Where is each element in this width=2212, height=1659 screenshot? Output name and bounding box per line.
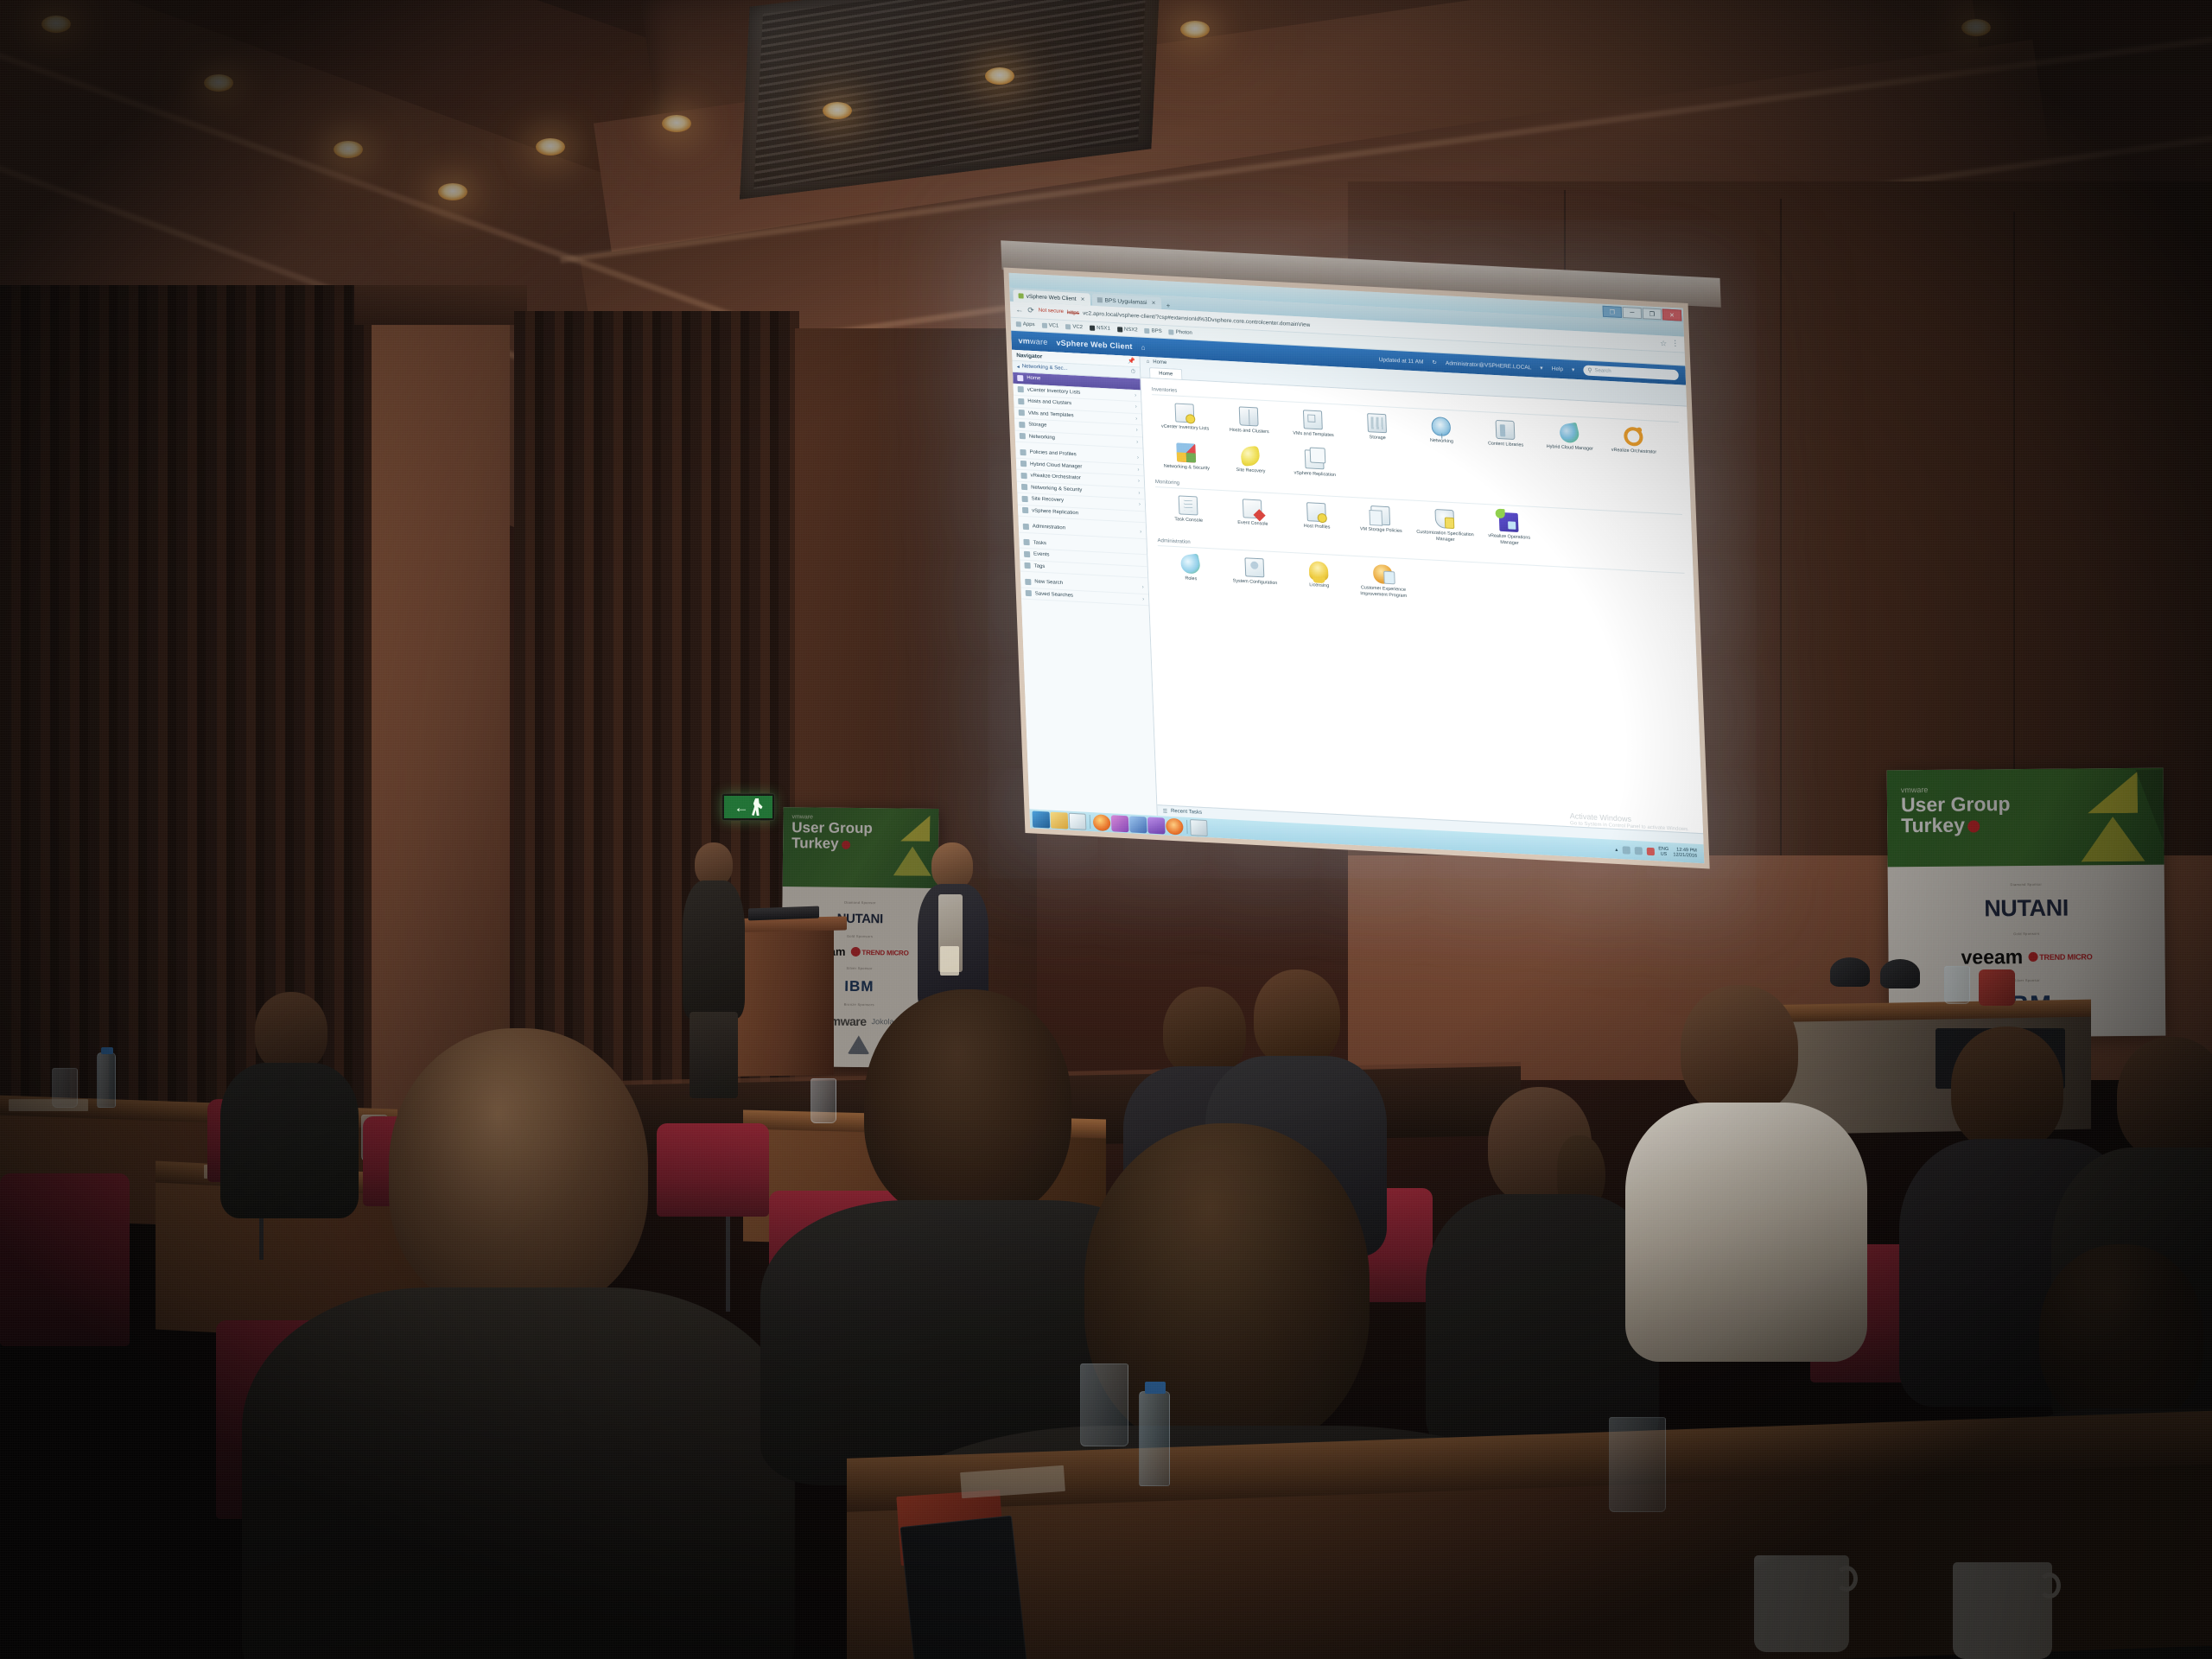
not-secure-icon: Not secure xyxy=(1039,308,1064,315)
restore-window-button[interactable]: ❐ xyxy=(1603,306,1623,318)
volume-icon[interactable] xyxy=(1634,846,1642,854)
audience-head xyxy=(1951,1027,2063,1151)
turkish-flag-icon xyxy=(1967,821,1980,833)
app-title: vSphere Web Client xyxy=(1056,338,1133,351)
sponsor-tier-label: Diamond Sponsor xyxy=(2011,882,2043,887)
bookmark-label: Apps xyxy=(1023,321,1035,327)
chair xyxy=(0,1173,130,1346)
inventory-lists-icon xyxy=(1175,403,1195,423)
shortcut-roles[interactable]: Roles xyxy=(1158,548,1224,596)
host-icon xyxy=(1018,398,1024,404)
photoshop-icon[interactable] xyxy=(1129,816,1147,833)
shortcut-label: System Configuration xyxy=(1233,579,1278,587)
shortcut-label: Roles xyxy=(1185,576,1197,582)
search-icon xyxy=(1025,579,1031,585)
main-content-panel: ⌂ Home Home InventoriesvCenter Inventory… xyxy=(1140,357,1703,845)
tag-icon xyxy=(1024,563,1030,569)
shortcut-vm-storage-policies[interactable]: VM Storage Policies xyxy=(1348,499,1414,548)
start-button[interactable] xyxy=(1032,810,1050,828)
content-libraries-icon xyxy=(1496,420,1516,440)
notepad-icon[interactable] xyxy=(1069,812,1087,829)
doc-favicon xyxy=(1096,297,1102,302)
serving-dome xyxy=(1830,957,1870,987)
shortcut-label: Event Console xyxy=(1237,520,1268,527)
taskbar-separator xyxy=(1090,815,1091,829)
water-bottle xyxy=(1139,1391,1170,1486)
bookmark-vc1[interactable]: VC1 xyxy=(1042,323,1059,329)
doc-icon xyxy=(1065,324,1071,329)
navigator-item-list: HomevCenter Inventory Lists›Hosts and Cl… xyxy=(1013,372,1157,816)
bookmark-nsx2[interactable]: NSX2 xyxy=(1117,327,1138,333)
clock[interactable]: 12:49 PM 12/21/2016 xyxy=(1673,847,1697,859)
presenter-laptop xyxy=(748,906,819,921)
show-hidden-icons-button[interactable]: ▴ xyxy=(1615,846,1618,852)
close-tab-icon[interactable]: ✕ xyxy=(1080,296,1084,302)
audience-torso xyxy=(242,1287,795,1659)
events-icon xyxy=(1024,551,1030,557)
shortcut-label: Customer Experience Improvement Program xyxy=(1353,585,1414,600)
settings-icon[interactable] xyxy=(1190,819,1208,836)
vsphere-favicon xyxy=(1018,293,1023,298)
home-icon xyxy=(1017,375,1023,381)
chevron-right-icon: › xyxy=(1139,502,1141,507)
shortcut-event-console[interactable]: Event Console xyxy=(1220,493,1286,541)
clock-date: 12/21/2016 xyxy=(1673,852,1697,858)
bookmark-bps[interactable]: BPS xyxy=(1145,328,1162,334)
storage-icon xyxy=(1367,413,1387,433)
network-icon xyxy=(1020,433,1026,439)
language-line2: US xyxy=(1661,852,1668,857)
conference-room-photo: ← ❐ ─ ❐ ✕ vSphere Web Client ✕ xyxy=(0,0,2212,1659)
browser-menu-icon[interactable]: ⋮ xyxy=(1671,341,1679,346)
inventory-icon xyxy=(1018,386,1024,392)
shortcut-vrealize-orchestrator[interactable]: vRealize Orchestrator xyxy=(1601,420,1667,462)
home-icon: ⌂ xyxy=(1147,359,1150,365)
chevron-right-icon: › xyxy=(1140,530,1141,535)
navigator-panel: Navigator 📌 ◂ Networking & Sec... ⏱ Home… xyxy=(1012,350,1158,816)
bottle-cap xyxy=(101,1047,113,1054)
admin-icon xyxy=(1023,524,1029,530)
sponsor-trendmicro-logo: TREND MICRO xyxy=(850,947,908,957)
close-window-button[interactable]: ✕ xyxy=(1662,308,1682,321)
shortcut-vrealize-operations-manager[interactable]: vRealize Operations Manager xyxy=(1476,506,1541,555)
audience-head xyxy=(1254,969,1340,1066)
policy-icon xyxy=(1020,449,1026,455)
networking-icon xyxy=(1431,416,1451,436)
sponsor-gold-row: veeam TREND MICRO xyxy=(1961,944,2092,969)
tab-home[interactable]: Home xyxy=(1149,367,1183,379)
shortcut-storage[interactable]: Storage xyxy=(1344,407,1410,449)
bookmark-label: NSX2 xyxy=(1124,327,1138,334)
chevron-right-icon: › xyxy=(1135,393,1136,398)
site-recovery-icon xyxy=(1239,446,1262,467)
vms-templates-icon xyxy=(1303,410,1323,429)
ceiling-spotlight xyxy=(536,138,565,156)
bookmark-star-icon[interactable]: ☆ xyxy=(1660,339,1668,348)
shortcut-label: vSphere Replication xyxy=(1294,470,1336,478)
navigator-title: Navigator xyxy=(1016,352,1042,359)
srm-icon xyxy=(1021,496,1027,502)
projection-screen: ❐ ─ ❐ ✕ vSphere Web Client ✕ BPS Uygulam… xyxy=(1003,267,1709,868)
replication-icon xyxy=(1022,507,1028,513)
security-icon[interactable] xyxy=(1646,847,1654,855)
bookmark-label: NSX1 xyxy=(1096,326,1110,332)
shortcut-vsphere-replication[interactable]: vSphere Replication xyxy=(1281,442,1347,485)
history-icon[interactable]: ⏱ xyxy=(1130,369,1135,376)
vsphere-client-icon[interactable] xyxy=(1093,814,1111,831)
back-icon[interactable]: ← xyxy=(1015,305,1023,314)
shortcut-vms-and-templates[interactable]: VMs and Templates xyxy=(1281,404,1346,446)
language-indicator[interactable]: ENG US xyxy=(1658,846,1669,857)
shortcut-label: vCenter Inventory Lists xyxy=(1161,424,1210,432)
wall-pillar xyxy=(372,302,510,1132)
audience-head xyxy=(1681,985,1798,1115)
recent-tasks-label: Recent Tasks xyxy=(1171,809,1202,816)
chrome-icon[interactable] xyxy=(1147,817,1166,834)
exit-arrow-icon: ← xyxy=(734,800,749,815)
shortcut-label: Site Recovery xyxy=(1236,467,1266,474)
chevron-right-icon: › xyxy=(1135,416,1137,422)
presenter-badge xyxy=(940,946,959,976)
shortcut-label: Licensing xyxy=(1309,582,1329,589)
sponsor-tier-label: Silver Sponsor xyxy=(846,966,872,970)
event-banner-right: vmware User Group Turkey Diamond Sponsor… xyxy=(1887,768,2166,1039)
shortcut-hosts-and-clusters[interactable]: Hosts and Clusters xyxy=(1216,400,1281,442)
shortcut-hybrid-cloud-manager[interactable]: Hybrid Cloud Manager xyxy=(1536,416,1602,459)
reload-icon[interactable]: ⟳ xyxy=(1027,305,1034,315)
nav-item-label: Saved Searches xyxy=(1035,591,1140,601)
system-tray: ▴ ENG US 12:49 PM 12/21/2016 xyxy=(1615,844,1701,860)
hybrid-cloud-icon xyxy=(1020,461,1027,467)
audience-head xyxy=(2039,1244,2203,1426)
ceiling-spotlight xyxy=(823,102,852,119)
user-menu-caret-icon[interactable]: ▾ xyxy=(1540,365,1543,372)
chevron-right-icon: › xyxy=(1137,467,1139,473)
audience-member-foreground xyxy=(285,1028,752,1659)
bookmark-label: BPS xyxy=(1152,328,1162,334)
system-configuration-icon xyxy=(1244,558,1264,578)
maximize-window-button[interactable]: ❐ xyxy=(1643,308,1662,320)
shortcut-vcenter-inventory-lists[interactable]: vCenter Inventory Lists xyxy=(1152,397,1217,439)
chevron-right-icon: › xyxy=(1138,491,1140,496)
ceip-icon xyxy=(1373,564,1393,584)
audience-member xyxy=(1637,985,1853,1348)
coffee-mug xyxy=(1754,1555,1849,1652)
vsphere-replication-icon xyxy=(1305,449,1325,469)
help-menu[interactable]: Help xyxy=(1552,365,1564,372)
water-bottle xyxy=(97,1052,116,1108)
breadcrumb-label: Home xyxy=(1153,359,1166,365)
exit-sign: ← xyxy=(721,793,775,821)
minimize-window-button[interactable]: ─ xyxy=(1623,307,1643,319)
ceiling-spotlight xyxy=(204,74,233,92)
bookmark-vc2[interactable]: VC2 xyxy=(1065,324,1083,330)
shortcut-content-libraries[interactable]: Content Libraries xyxy=(1472,414,1538,456)
drinking-glass xyxy=(1944,966,1970,1004)
chevron-right-icon: › xyxy=(1135,404,1137,410)
red-container xyxy=(1979,969,2015,1006)
drinking-glass xyxy=(1080,1363,1128,1446)
shortcut-label: VM Storage Policies xyxy=(1360,527,1402,535)
putty-icon[interactable] xyxy=(1111,815,1129,832)
shortcut-label: vRealize Orchestrator xyxy=(1611,448,1657,455)
shortcut-label: Task Console xyxy=(1174,517,1203,524)
banner-title-line2: Turkey xyxy=(1901,813,2164,836)
firefox-icon[interactable] xyxy=(1166,817,1184,835)
bottle-cap xyxy=(1145,1382,1166,1394)
vmware-logo: vmware xyxy=(1018,336,1047,346)
vro-icon xyxy=(1020,473,1027,479)
header-spacer xyxy=(1154,347,1370,359)
audience-head xyxy=(389,1028,648,1313)
tablet-device xyxy=(899,1516,1027,1659)
shortcut-label: Networking xyxy=(1430,438,1453,445)
banner-green-header: vmware User Group Turkey xyxy=(783,807,939,888)
bookmark-label: Photon xyxy=(1176,330,1192,336)
tasks-icon xyxy=(1023,539,1029,545)
dark-square-icon xyxy=(1117,327,1122,332)
sponsor-tier-label: Gold Sponsors xyxy=(2013,931,2039,936)
vrealize-operations-manager-icon xyxy=(1499,512,1519,532)
nsx-icon xyxy=(1021,484,1027,490)
vrealize-orchestrator-icon xyxy=(1624,427,1643,447)
shortcut-label: VMs and Templates xyxy=(1293,431,1334,439)
chevron-right-icon: › xyxy=(1136,428,1138,433)
chevron-right-icon: › xyxy=(1137,455,1139,461)
shortcut-licensing[interactable]: Licensing xyxy=(1286,555,1351,603)
shortcut-label: Customization Specification Manager xyxy=(1414,530,1476,544)
apps-grid-icon xyxy=(1016,321,1021,327)
event-console-icon xyxy=(1243,499,1262,518)
dark-square-icon xyxy=(1090,326,1095,331)
serving-dome xyxy=(1880,959,1920,988)
chevron-right-icon: › xyxy=(1138,479,1140,484)
projected-desktop: ❐ ─ ❐ ✕ vSphere Web Client ✕ BPS Uygulam… xyxy=(1009,273,1705,863)
wall-pillar-cap xyxy=(354,285,527,325)
browser-tab-label: BPS Uygulamasi xyxy=(1104,297,1147,306)
refresh-icon[interactable]: ↻ xyxy=(1432,359,1437,365)
browser-tab-label: vSphere Web Client xyxy=(1027,293,1077,302)
chevron-right-icon: › xyxy=(1142,585,1144,590)
shortcut-label: Storage xyxy=(1370,435,1386,442)
shortcut-label: vRealize Operations Manager xyxy=(1479,533,1541,548)
shortcut-label: Networking & Security xyxy=(1164,463,1210,471)
global-search-input[interactable]: ⚲ Search xyxy=(1583,365,1679,380)
shortcut-task-console[interactable]: Task Console xyxy=(1155,489,1221,537)
recent-tasks-icon: ☰ xyxy=(1162,808,1167,814)
url-scheme: https xyxy=(1067,309,1079,316)
banner-green-header: vmware User Group Turkey xyxy=(1887,768,2164,868)
doc-icon xyxy=(1169,329,1174,334)
bookmark-apps[interactable]: Apps xyxy=(1016,321,1035,327)
shortcut-networking-security[interactable]: Networking & Security xyxy=(1154,436,1219,479)
shortcut-site-recovery[interactable]: Site Recovery xyxy=(1217,440,1283,482)
vsphere-body: Navigator 📌 ◂ Networking & Sec... ⏱ Home… xyxy=(1012,350,1704,844)
shortcut-system-configuration[interactable]: System Configuration xyxy=(1222,551,1287,600)
bookmark-photon[interactable]: Photon xyxy=(1169,329,1192,335)
coffee-mug xyxy=(1953,1562,2052,1659)
chevron-right-icon: › xyxy=(1136,440,1138,445)
task-console-icon xyxy=(1179,496,1198,516)
close-tab-icon[interactable]: ✕ xyxy=(1151,300,1155,306)
shortcut-label: Host Profiles xyxy=(1304,524,1331,531)
audience-torso-white xyxy=(1625,1103,1867,1362)
ceiling-spotlight xyxy=(985,67,1014,85)
audience-head xyxy=(2117,1037,2212,1160)
saved-search-icon xyxy=(1026,590,1032,596)
shortcut-networking[interactable]: Networking xyxy=(1408,410,1474,453)
licensing-icon xyxy=(1309,561,1329,581)
chevron-right-icon: › xyxy=(1142,597,1144,602)
host-profiles-icon xyxy=(1306,502,1326,522)
ceiling-spotlight xyxy=(662,115,691,132)
taskbar-separator xyxy=(1186,820,1188,834)
ceiling-spotlight xyxy=(334,141,363,158)
shortcut-customer-experience-improvement-program[interactable]: Customer Experience Improvement Program xyxy=(1351,558,1416,607)
bookmark-nsx1[interactable]: NSX1 xyxy=(1090,326,1110,332)
pin-icon[interactable]: 📌 xyxy=(1128,358,1135,365)
shortcut-customization-specification-manager[interactable]: Customization Specification Manager xyxy=(1412,503,1478,551)
presenter-head xyxy=(695,842,733,886)
search-placeholder: Search xyxy=(1594,368,1611,374)
sponsor-tier-label: Diamond Sponsor xyxy=(844,899,876,904)
vm-storage-policies-icon xyxy=(1370,505,1390,525)
shortcut-label: Hybrid Cloud Manager xyxy=(1547,444,1593,452)
drinking-glass xyxy=(1609,1417,1666,1512)
doc-icon xyxy=(1042,323,1047,328)
home-shortcut-grid: InventoriesvCenter Inventory ListsHosts … xyxy=(1141,378,1703,833)
home-icon[interactable]: ⌂ xyxy=(1141,343,1146,351)
sponsor-veeam-logo: veeam xyxy=(1961,945,2023,969)
ceiling-spotlight xyxy=(438,183,467,200)
navigator-back-chevron-icon: ◂ xyxy=(1017,363,1020,369)
shortcut-host-profiles[interactable]: Host Profiles xyxy=(1284,496,1350,544)
network-icon[interactable] xyxy=(1622,846,1630,854)
shortcut-label: Content Libraries xyxy=(1488,441,1523,448)
ceiling-spotlight xyxy=(1961,19,1991,36)
presenter-head xyxy=(931,842,973,889)
file-explorer-icon[interactable] xyxy=(1051,811,1069,829)
help-menu-caret-icon[interactable]: ▾ xyxy=(1572,366,1575,373)
hosts-clusters-icon xyxy=(1239,406,1259,426)
bookmark-label: VC2 xyxy=(1072,325,1083,331)
sponsor-tier-label: Gold Sponsors xyxy=(847,934,873,938)
presenter-torso xyxy=(683,880,745,1019)
turkish-flag-icon xyxy=(842,841,850,849)
customization-spec-manager-icon xyxy=(1434,509,1454,529)
networking-security-icon xyxy=(1176,442,1196,462)
bookmark-label: VC1 xyxy=(1049,323,1059,329)
hybrid-cloud-manager-icon xyxy=(1558,423,1581,444)
doc-icon xyxy=(1145,328,1150,334)
ceiling-spotlight xyxy=(41,16,71,33)
ceiling-spotlight xyxy=(1180,21,1210,38)
updated-label: Updated at 11 AM xyxy=(1379,357,1424,365)
paper-sheet xyxy=(9,1099,88,1111)
sponsor-nutanix-logo: NUTANI xyxy=(1984,895,2069,923)
storage-icon xyxy=(1019,422,1025,428)
sponsor-trendmicro-logo: TREND MICRO xyxy=(2028,951,2092,962)
user-menu[interactable]: Administrator@VSPHERE.LOCAL xyxy=(1446,360,1532,371)
shortcut-label: Hosts and Clusters xyxy=(1230,428,1269,435)
sponsor-tier-label: Silver Sponsor xyxy=(2014,977,2040,982)
search-icon: ⚲ xyxy=(1587,367,1592,374)
vm-icon xyxy=(1019,410,1025,416)
roles-icon xyxy=(1179,554,1202,575)
